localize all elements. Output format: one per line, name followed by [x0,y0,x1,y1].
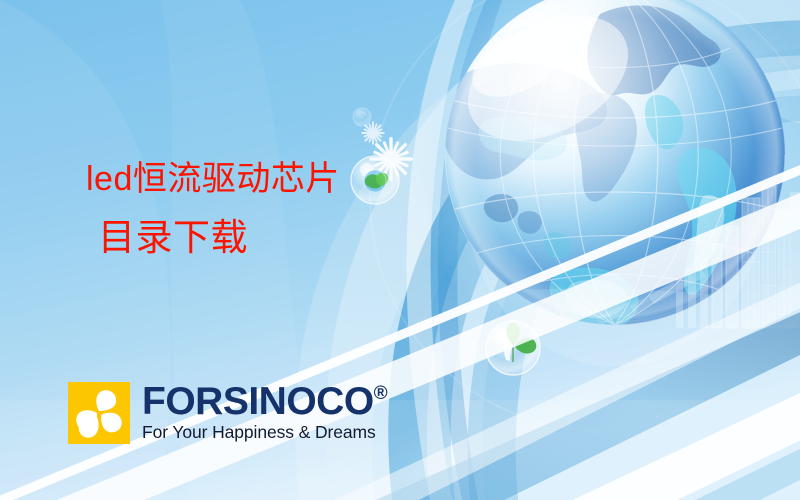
bubble-sprout-icon [486,321,540,375]
bubble-globe-icon [351,156,399,204]
page-title-line-2: 目录下载 [86,219,340,257]
page-title-line-1: led恒流驱动芯片 [86,162,340,197]
registered-trademark-icon: ® [374,383,388,404]
brand-tagline: For Your Happiness & Dreams [142,422,387,443]
brand-lockup: FORSINOCO® For Your Happiness & Dreams [142,383,387,442]
city-skyline-icon [596,186,800,328]
brand-wordmark: FORSINOCO [142,380,374,423]
poster-canvas: led恒流驱动芯片 目录下载 FORSINOCO® For Your Happi… [0,0,800,500]
brand-logo: FORSINOCO® For Your Happiness & Dreams [68,382,387,444]
four-petal-pinwheel-icon [68,382,130,444]
brand-name: FORSINOCO® [142,383,387,420]
starburst-icon [361,121,413,181]
page-title: led恒流驱动芯片 目录下载 [86,162,340,258]
globe-icon [407,0,800,366]
